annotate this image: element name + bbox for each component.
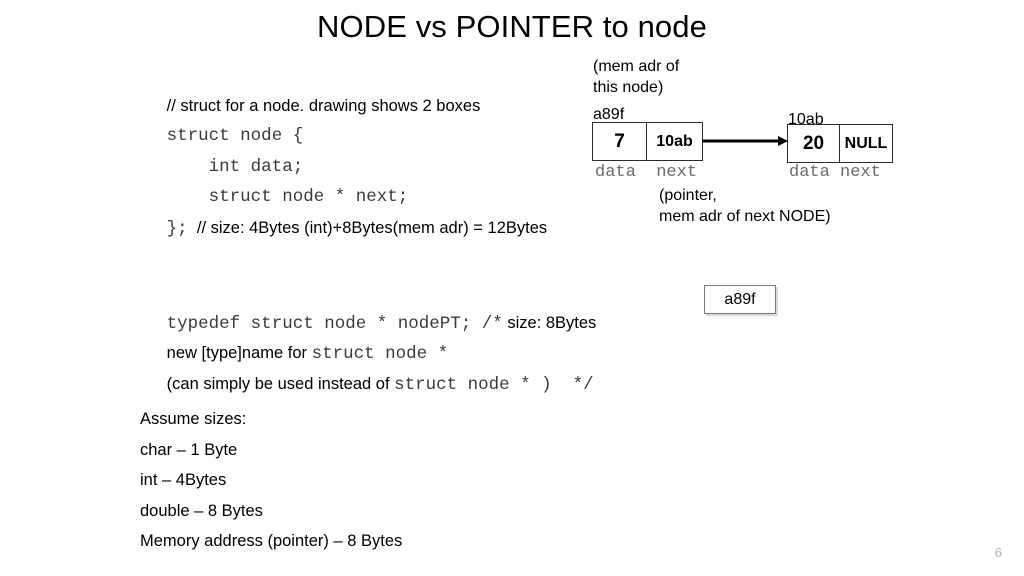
struct-comment-text: // struct for a node. drawing shows 2 bo… — [167, 97, 481, 115]
node1-field-labels: data next — [595, 163, 697, 182]
node2-data-cell: 20 — [788, 125, 839, 162]
pointer-value-box: a89f — [704, 285, 776, 314]
typedef-code-block: typedef struct node * nodePT; /* size: 8… — [140, 277, 680, 369]
assume-item-char: char – 1 Byte — [140, 435, 560, 466]
node-box-1: 7 10ab — [592, 122, 703, 161]
typedef-newname-code: struct node * — [312, 344, 449, 364]
assume-heading: Assume sizes: — [140, 404, 560, 435]
assume-item-pointer: Memory address (pointer) – 8 Bytes — [140, 526, 560, 557]
typedef-usage-label: (can simply be used instead of — [167, 375, 394, 393]
node1-next-cell: 10ab — [646, 123, 702, 160]
assume-item-double: double – 8 Bytes — [140, 496, 560, 527]
note-pointer-mem-adr: (pointer, mem adr of next NODE) — [659, 185, 831, 227]
typedef-line-1: typedef struct node * nodePT; /* size: 8… — [140, 277, 680, 308]
struct-code-block: // struct for a node. drawing shows 2 bo… — [140, 60, 610, 213]
struct-open-text: struct node { — [167, 126, 304, 146]
slide-canvas: NODE vs POINTER to node // struct for a … — [0, 0, 1024, 576]
slide-number: 6 — [995, 545, 1002, 560]
assume-sizes-block: Assume sizes: char – 1 Byte int – 4Bytes… — [140, 404, 560, 557]
node2-next-cell: NULL — [839, 125, 892, 162]
node-box-2: 20 NULL — [787, 124, 893, 163]
pointer-value-text: a89f — [724, 291, 755, 309]
struct-field-next-text: struct node * next; — [167, 187, 409, 207]
node1-data-cell: 7 — [593, 123, 646, 160]
arrow-right-icon — [702, 135, 788, 147]
page-title: NODE vs POINTER to node — [0, 8, 1024, 46]
struct-field-data-text: int data; — [167, 157, 304, 177]
struct-comment-line: // struct for a node. drawing shows 2 bo… — [140, 60, 610, 91]
typedef-size-text: size: 8Bytes — [503, 314, 597, 332]
typedef-newname-label: new [type]name for — [167, 344, 312, 362]
node2-field-labels: data next — [789, 163, 881, 182]
assume-item-int: int – 4Bytes — [140, 465, 560, 496]
struct-size-comment-text: // size: 4Bytes (int)+8Bytes(mem adr) = … — [188, 219, 547, 237]
typedef-usage-code: struct node * ) */ — [394, 375, 594, 395]
typedef-declaration-text: typedef struct node * nodePT; /* — [167, 314, 503, 334]
note-mem-adr-this-node: (mem adr of this node) — [593, 56, 679, 98]
struct-close-text: }; — [167, 219, 188, 239]
